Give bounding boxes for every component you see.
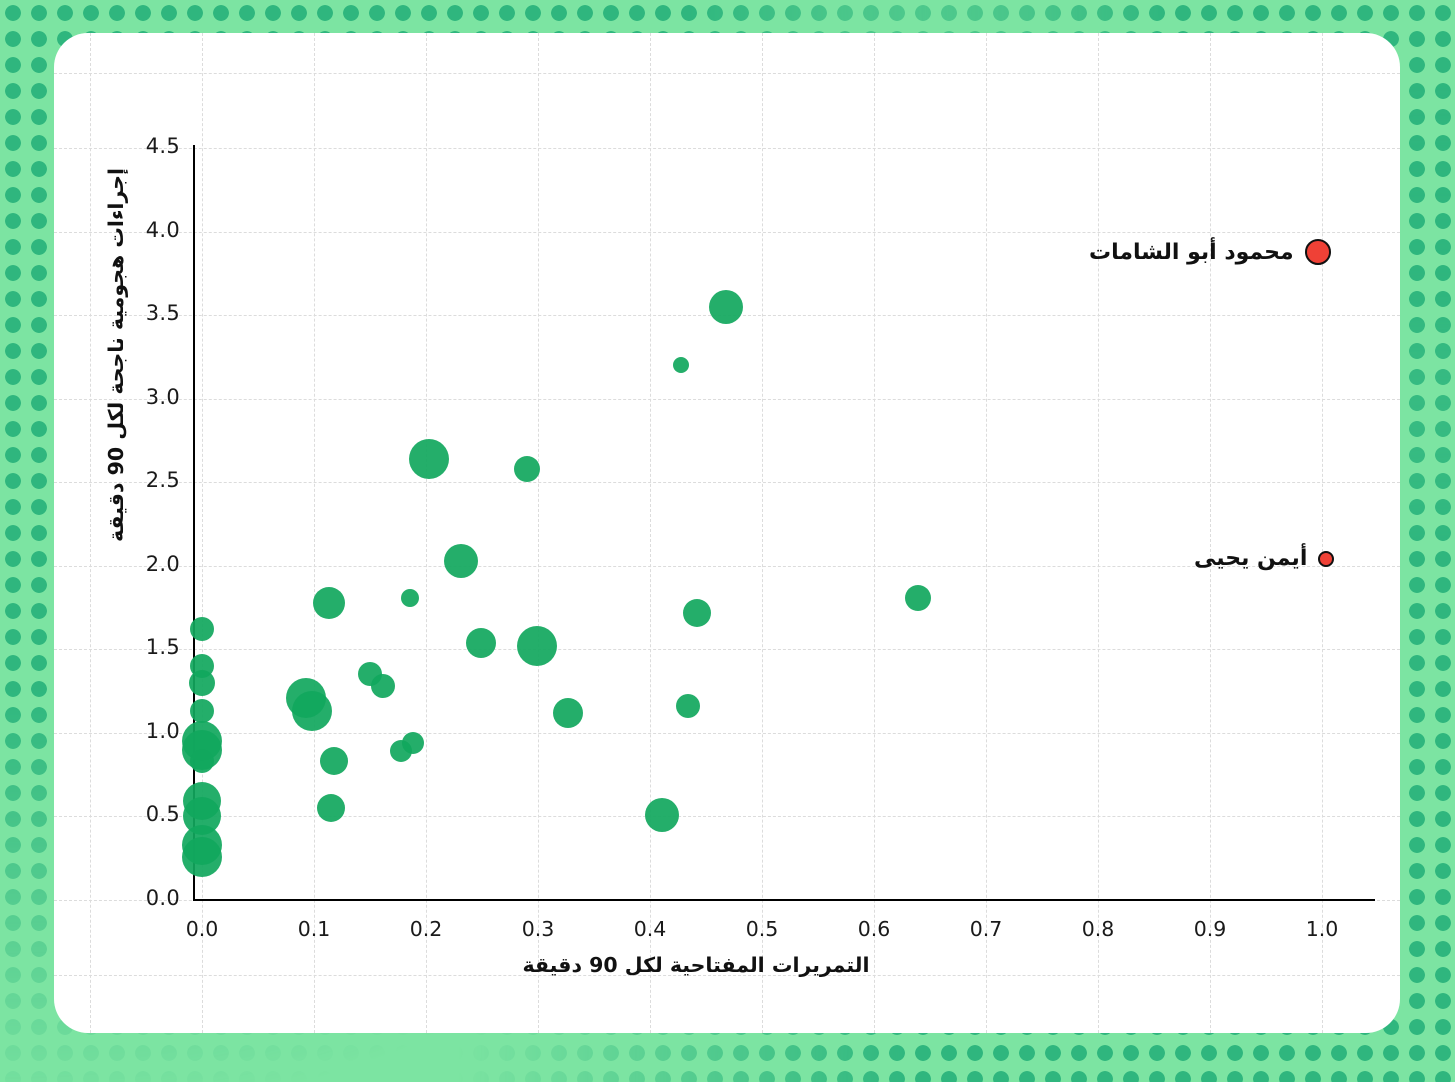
x-tick-label: 0.0 <box>172 917 232 941</box>
x-tick-label: 0.9 <box>1180 917 1240 941</box>
legend-item-ayman-yahya[interactable]: أيمن يحيى <box>1194 546 1334 571</box>
x-axis-title: التمريرات المفتاحية لكل 90 دقيقة <box>54 953 1400 977</box>
scatter-point[interactable] <box>673 357 689 373</box>
scatter-point[interactable] <box>466 628 496 658</box>
y-tick-label: 0.0 <box>128 886 180 910</box>
scatter-point[interactable] <box>317 794 345 822</box>
legend-marker-icon <box>1318 551 1334 567</box>
scatter-point[interactable] <box>553 698 583 728</box>
legend-label: محمود أبو الشامات <box>1089 240 1294 265</box>
scatter-point[interactable] <box>683 599 711 627</box>
scatter-point[interactable] <box>190 749 214 773</box>
scatter-point[interactable] <box>709 290 743 324</box>
scatter-point[interactable] <box>401 589 419 607</box>
scatter-plot: 0.00.51.01.52.02.53.03.54.04.5 0.00.10.2… <box>54 33 1400 1033</box>
y-tick-label: 4.0 <box>128 218 180 242</box>
x-tick-label: 0.7 <box>956 917 1016 941</box>
x-axis-spine <box>193 899 1375 901</box>
scatter-point[interactable] <box>645 798 679 832</box>
scatter-point[interactable] <box>313 587 345 619</box>
x-tick-label: 1.0 <box>1292 917 1352 941</box>
scatter-point[interactable] <box>517 626 557 666</box>
y-tick-label: 2.5 <box>128 468 180 492</box>
scatter-point[interactable] <box>371 674 395 698</box>
x-tick-label: 0.4 <box>620 917 680 941</box>
y-tick-label: 0.5 <box>128 802 180 826</box>
scatter-point[interactable] <box>409 439 449 479</box>
y-tick-label: 1.5 <box>128 635 180 659</box>
scatter-point[interactable] <box>182 837 222 877</box>
legend-label: أيمن يحيى <box>1194 546 1307 571</box>
scatter-point[interactable] <box>190 699 214 723</box>
y-tick-label: 2.0 <box>128 552 180 576</box>
y-tick-label: 4.5 <box>128 134 180 158</box>
x-tick-label: 0.1 <box>284 917 344 941</box>
x-tick-label: 0.5 <box>732 917 792 941</box>
chart-card: 0.00.51.01.52.02.53.03.54.04.5 0.00.10.2… <box>54 33 1400 1033</box>
scatter-point[interactable] <box>190 617 214 641</box>
scatter-point[interactable] <box>292 691 332 731</box>
scatter-point[interactable] <box>189 670 215 696</box>
scatter-point[interactable] <box>676 694 700 718</box>
y-tick-label: 3.5 <box>128 301 180 325</box>
scatter-point[interactable] <box>444 544 478 578</box>
y-tick-label: 1.0 <box>128 719 180 743</box>
scatter-point[interactable] <box>514 456 540 482</box>
y-tick-label: 3.0 <box>128 385 180 409</box>
x-tick-label: 0.2 <box>396 917 456 941</box>
legend-item-mahmoud-abu-alshamat[interactable]: محمود أبو الشامات <box>1089 239 1331 265</box>
scatter-point[interactable] <box>905 585 931 611</box>
legend-marker-icon <box>1305 239 1331 265</box>
scatter-point[interactable] <box>320 747 348 775</box>
page-background: 0.00.51.01.52.02.53.03.54.04.5 0.00.10.2… <box>0 0 1455 1082</box>
x-tick-label: 0.6 <box>844 917 904 941</box>
x-tick-label: 0.8 <box>1068 917 1128 941</box>
scatter-point[interactable] <box>402 732 424 754</box>
x-tick-label: 0.3 <box>508 917 568 941</box>
y-axis-title: إجراءات هجومية ناجحة لكل 90 دقيقة <box>104 145 128 565</box>
